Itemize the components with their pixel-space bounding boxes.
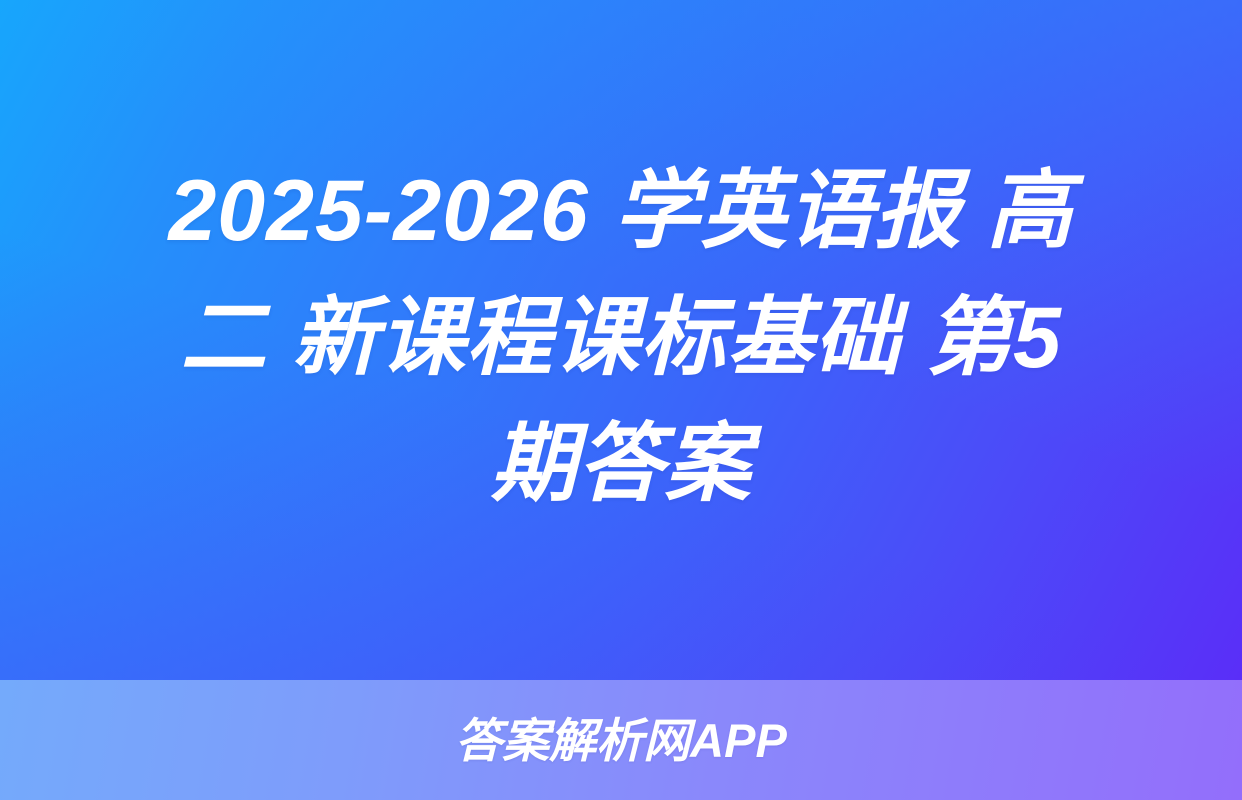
answer-key-banner: 2025-2026 学英语报 高 二 新课程课标基础 第5 期答案 答案解析网A… xyxy=(0,0,1242,800)
footer-brand-bar: 答案解析网APP xyxy=(0,680,1242,800)
hero-gradient-background: 2025-2026 学英语报 高 二 新课程课标基础 第5 期答案 xyxy=(0,0,1242,680)
title-line-1: 2025-2026 学英语报 高 xyxy=(46,148,1196,274)
banner-title: 2025-2026 学英语报 高 二 新课程课标基础 第5 期答案 xyxy=(46,148,1196,531)
app-brand-label: 答案解析网APP xyxy=(455,717,787,764)
title-line-2: 二 新课程课标基础 第5 xyxy=(46,275,1196,401)
title-line-3: 期答案 xyxy=(46,401,1196,527)
